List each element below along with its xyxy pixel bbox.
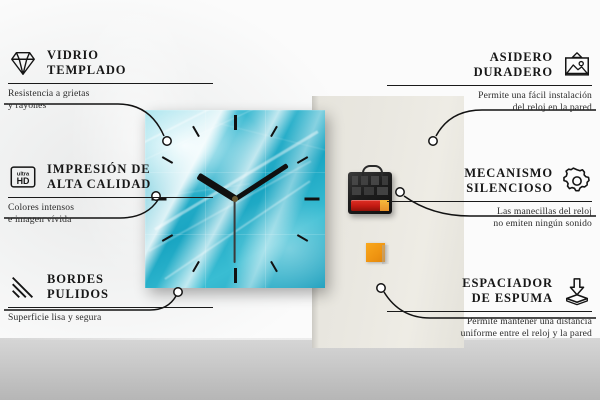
mechanism-body-detail [352, 176, 388, 196]
feature-divider [8, 197, 213, 198]
clock-mechanism [348, 172, 392, 214]
feature-vidrio-templado[interactable]: VIDRIO TEMPLADO Resistencia a grietas y … [8, 48, 213, 113]
feature-title: VIDRIO TEMPLADO [47, 48, 126, 79]
feature-description: Colores intensos e imagen vívida [8, 202, 213, 227]
feature-espaciador-espuma[interactable]: ESPACIADOR DE ESPUMA Permite mantener un… [387, 276, 592, 341]
feature-title: IMPRESIÓN DE ALTA CALIDAD [47, 162, 151, 193]
feature-title: MECANISMO SILENCIOSO [464, 166, 553, 197]
infographic-canvas: VIDRIO TEMPLADO Resistencia a grietas y … [0, 0, 600, 400]
feature-divider [8, 83, 213, 84]
feature-title-line2: ALTA CALIDAD [47, 177, 151, 192]
feature-impresion-alta-calidad[interactable]: ultra HD IMPRESIÓN DE ALTA CALIDAD Color… [8, 162, 213, 227]
feature-description: Superficie lisa y segura [8, 312, 213, 325]
feature-description: Permite una fácil instalación del reloj … [387, 90, 592, 115]
feature-description: Resistencia a grietas y rayones [8, 88, 213, 113]
feature-title-line2: DURADERO [474, 65, 553, 80]
feature-divider [8, 307, 213, 308]
feature-desc-line1: Colores intensos [8, 202, 213, 215]
feature-title-line1: ASIDERO [474, 50, 553, 65]
svg-text:HD: HD [17, 176, 30, 186]
feature-desc-line1: Resistencia a grietas [8, 88, 213, 101]
feature-title-line1: IMPRESIÓN DE [47, 162, 151, 177]
feature-title-line1: ESPACIADOR [462, 276, 553, 291]
feature-divider [387, 85, 592, 86]
mechanism-battery [351, 200, 389, 211]
feature-asidero-duradero[interactable]: ASIDERO DURADERO Permite una fácil insta… [387, 50, 592, 115]
feature-divider [387, 311, 592, 312]
foam-spacer-piece [366, 243, 385, 262]
feature-desc-line2: no emiten ningún sonido [387, 218, 592, 231]
foam-spacer-icon [562, 276, 592, 306]
feature-title-line2: PULIDOS [47, 287, 109, 302]
feature-mecanismo-silencioso[interactable]: MECANISMO SILENCIOSO Las manecillas del … [387, 166, 592, 231]
feature-title: ASIDERO DURADERO [474, 50, 553, 81]
feature-desc-line2: e imagen vívida [8, 214, 213, 227]
feature-desc-line1: Superficie lisa y segura [8, 312, 213, 325]
feature-title-line2: SILENCIOSO [464, 181, 553, 196]
feature-title-line2: TEMPLADO [47, 63, 126, 78]
background-floor [0, 338, 600, 400]
feature-title-line1: MECANISMO [464, 166, 553, 181]
feature-divider [387, 201, 592, 202]
feature-title-line1: VIDRIO [47, 48, 126, 63]
clock-center-hub [232, 196, 238, 202]
picture-frame-hanger-icon [562, 50, 592, 80]
feature-title: ESPACIADOR DE ESPUMA [462, 276, 553, 307]
feature-desc-line2: y rayones [8, 100, 213, 113]
feature-desc-line1: Las manecillas del reloj [387, 206, 592, 219]
gear-icon [562, 166, 592, 196]
diamond-icon [8, 48, 38, 78]
feature-title: BORDES PULIDOS [47, 272, 109, 303]
clock-second-hand [234, 199, 236, 263]
feature-desc-line2: uniforme entre el reloj y la pared [387, 328, 592, 341]
feature-desc-line1: Permite una fácil instalación [387, 90, 592, 103]
feature-description: Las manecillas del reloj no emiten ningú… [387, 206, 592, 231]
feature-title-line2: DE ESPUMA [462, 291, 553, 306]
polished-edges-icon [8, 272, 38, 302]
ultra-hd-icon: ultra HD [8, 162, 38, 192]
feature-desc-line1: Permite mantener una distancia [387, 316, 592, 329]
feature-bordes-pulidos[interactable]: BORDES PULIDOS Superficie lisa y segura [8, 272, 213, 324]
feature-description: Permite mantener una distancia uniforme … [387, 316, 592, 341]
feature-title-line1: BORDES [47, 272, 109, 287]
feature-desc-line2: del reloj en la pared [387, 102, 592, 115]
